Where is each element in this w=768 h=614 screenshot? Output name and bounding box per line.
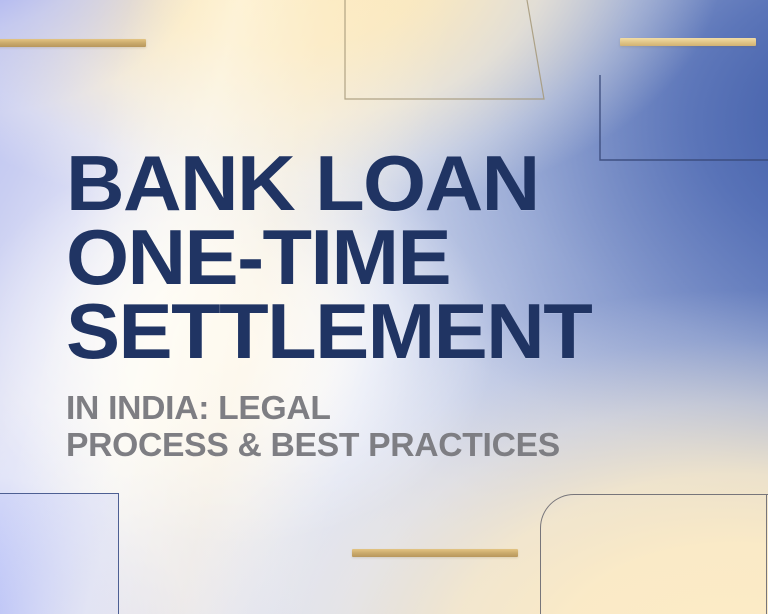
gold-bar-top-left	[0, 39, 146, 47]
gold-bar-bottom-center	[352, 549, 518, 557]
poster-subheadline: IN INDIA: LEGAL PROCESS & BEST PRACTICES	[66, 390, 729, 463]
poster-canvas: BANK LOAN ONE-TIME SETTLEMENT IN INDIA: …	[0, 0, 768, 614]
quadrilateral-outline-top	[344, 0, 549, 101]
rectangle-outline-bottom-left	[0, 493, 119, 614]
title-block: BANK LOAN ONE-TIME SETTLEMENT IN INDIA: …	[66, 146, 716, 463]
poster-headline: BANK LOAN ONE-TIME SETTLEMENT	[66, 146, 742, 368]
gold-bar-top-right	[620, 38, 756, 46]
rounded-rectangle-bottom-right	[540, 494, 768, 614]
